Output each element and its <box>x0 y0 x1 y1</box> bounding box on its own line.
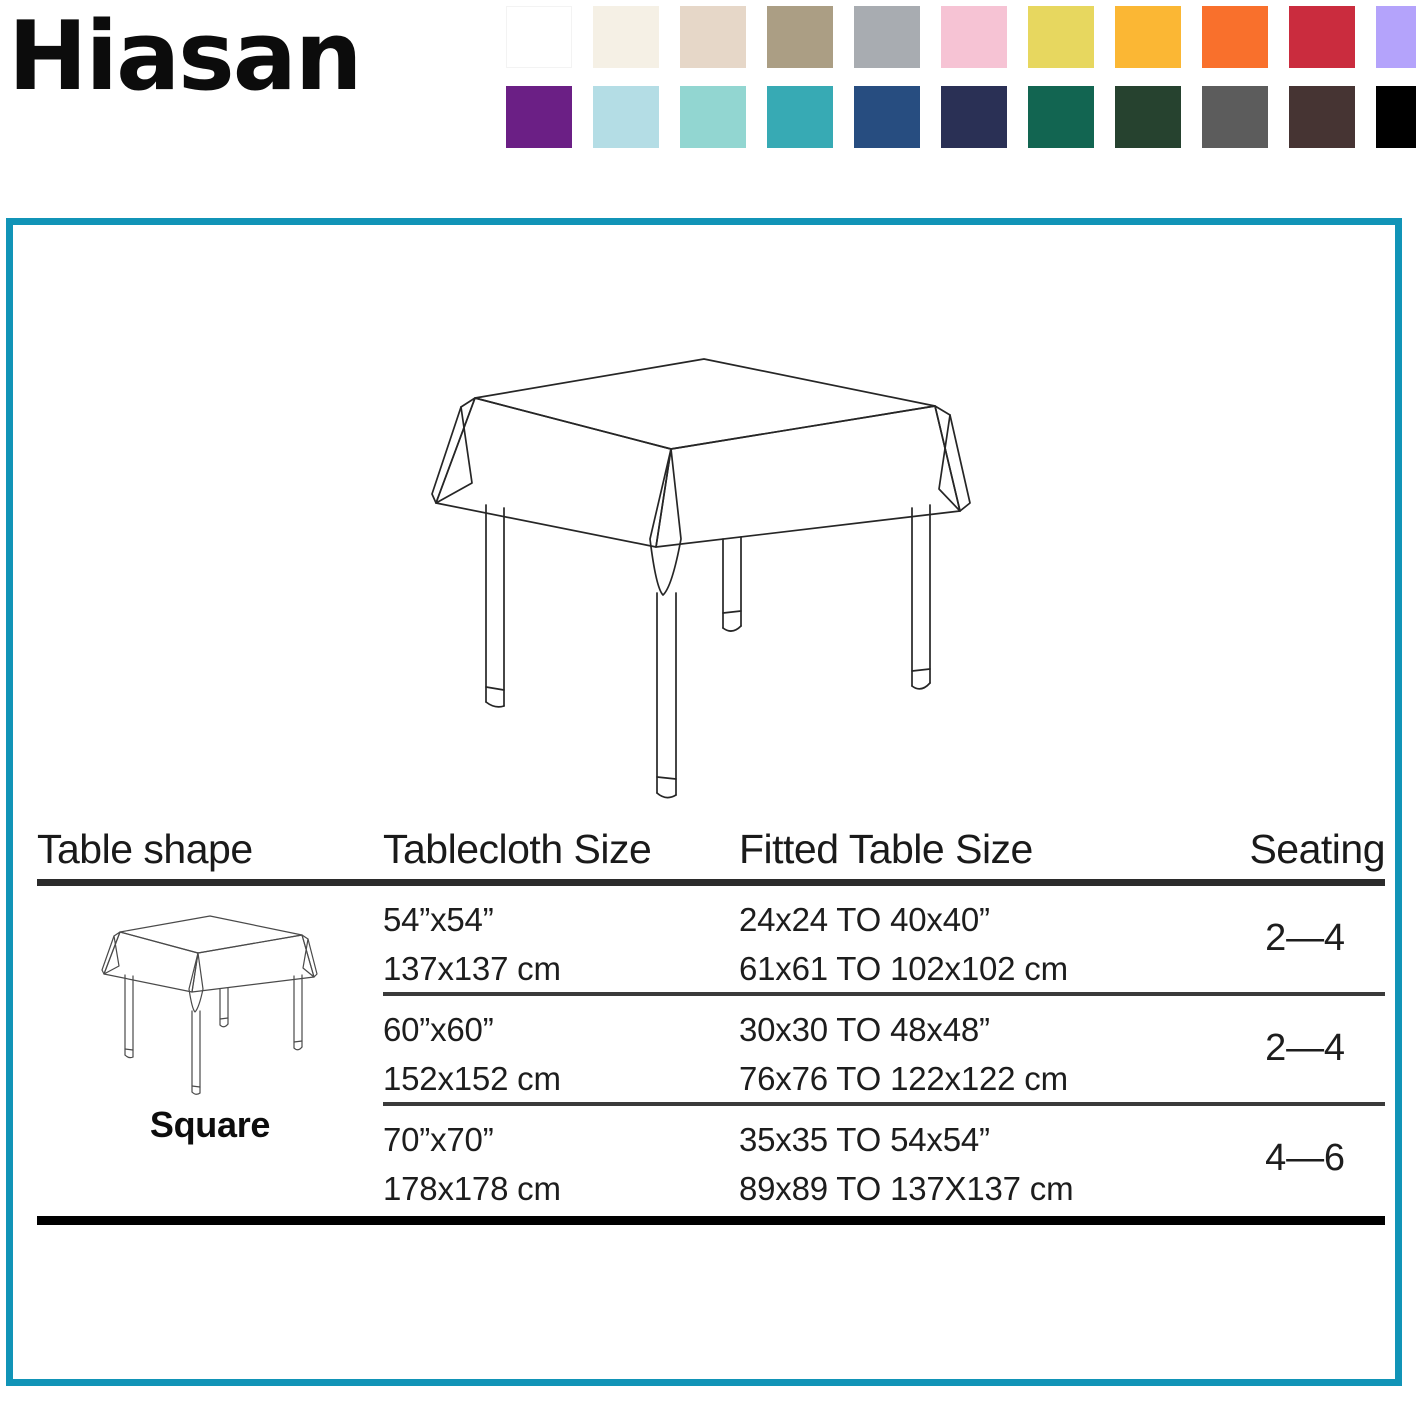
seating-value: 2—4 <box>1265 1027 1345 1070</box>
fitted-table-size-cell: 24x24 TO 40x40” 61x61 TO 102x102 cm <box>739 886 1225 994</box>
tablecloth-size-cell: 54”x54” 137x137 cm <box>383 886 739 994</box>
seating-cell: 2—4 <box>1225 886 1385 990</box>
color-swatch-white[interactable] <box>506 6 572 68</box>
table-header-row: Table shape Tablecloth Size Fitted Table… <box>37 807 1385 873</box>
tablecloth-size-cell: 60”x60” 152x152 cm <box>383 996 739 1104</box>
table-row: 70”x70” 178x178 cm 35x35 TO 54x54” 89x89… <box>383 1106 1385 1216</box>
color-swatch-orange[interactable] <box>1202 6 1268 68</box>
seating-cell: 4—6 <box>1225 1106 1385 1210</box>
fitted-size-inches: 30x30 TO 48x48” <box>739 1006 1225 1055</box>
color-swatch-yellow[interactable] <box>1028 6 1094 68</box>
tablecloth-size-inches: 60”x60” <box>383 1006 739 1055</box>
color-swatch-gray[interactable] <box>854 6 920 68</box>
square-table-icon <box>94 904 326 1100</box>
table-row: 54”x54” 137x137 cm 24x24 TO 40x40” 61x61… <box>383 886 1385 996</box>
table-row: 60”x60” 152x152 cm 30x30 TO 48x48” 76x76… <box>383 996 1385 1106</box>
column-header-table-shape: Table shape <box>37 826 383 873</box>
fitted-size-inches: 35x35 TO 54x54” <box>739 1116 1225 1165</box>
square-table-illustration <box>423 343 983 803</box>
color-swatch-lavender[interactable] <box>1376 6 1416 68</box>
tablecloth-size-cm: 178x178 cm <box>383 1165 739 1214</box>
color-swatch-charcoal-gray[interactable] <box>1202 86 1268 148</box>
fitted-size-cm: 76x76 TO 122x122 cm <box>739 1055 1225 1104</box>
color-swatch-purple[interactable] <box>506 86 572 148</box>
tablecloth-size-cell: 70”x70” 178x178 cm <box>383 1106 739 1214</box>
tablecloth-size-inches: 54”x54” <box>383 896 739 945</box>
column-header-tablecloth-size: Tablecloth Size <box>383 826 739 873</box>
header-divider <box>37 879 1385 886</box>
color-swatch-emerald[interactable] <box>1028 86 1094 148</box>
color-swatch-denim-blue[interactable] <box>854 86 920 148</box>
table-body: Square 54”x54” 137x137 cm 24x24 TO 40x40… <box>37 886 1385 1216</box>
fitted-size-inches: 24x24 TO 40x40” <box>739 896 1225 945</box>
tablecloth-size-inches: 70”x70” <box>383 1116 739 1165</box>
fitted-size-cm: 61x61 TO 102x102 cm <box>739 945 1225 994</box>
color-swatch-black[interactable] <box>1376 86 1416 148</box>
seating-cell: 2—4 <box>1225 996 1385 1100</box>
color-swatch-light-blue[interactable] <box>593 86 659 148</box>
color-swatch-pink[interactable] <box>941 6 1007 68</box>
seating-value: 4—6 <box>1265 1137 1345 1180</box>
table-shape-cell: Square <box>37 886 383 1216</box>
size-chart-table: Table shape Tablecloth Size Fitted Table… <box>37 807 1385 1225</box>
color-swatch-ivory[interactable] <box>593 6 659 68</box>
color-swatch-navy[interactable] <box>941 86 1007 148</box>
color-swatch-taupe[interactable] <box>767 6 833 68</box>
color-swatch-aqua[interactable] <box>680 86 746 148</box>
size-rows-container: 54”x54” 137x137 cm 24x24 TO 40x40” 61x61… <box>383 886 1385 1216</box>
info-card: Table shape Tablecloth Size Fitted Table… <box>6 218 1402 1386</box>
seating-value: 2—4 <box>1265 917 1345 960</box>
header-banner: Hiasan <box>0 0 1416 200</box>
table-shape-label: Square <box>37 1104 383 1146</box>
column-header-fitted-table-size: Fitted Table Size <box>739 826 1225 873</box>
fitted-table-size-cell: 30x30 TO 48x48” 76x76 TO 122x122 cm <box>739 996 1225 1104</box>
color-swatch-red[interactable] <box>1289 6 1355 68</box>
brand-logo: Hiasan <box>8 10 360 105</box>
column-header-seating: Seating <box>1225 826 1385 873</box>
table-bottom-divider <box>37 1216 1385 1225</box>
color-swatch-panel <box>506 6 1410 166</box>
color-swatch-marigold[interactable] <box>1115 6 1181 68</box>
fitted-table-size-cell: 35x35 TO 54x54” 89x89 TO 137X137 cm <box>739 1106 1225 1214</box>
color-swatch-teal[interactable] <box>767 86 833 148</box>
color-swatch-beige[interactable] <box>680 6 746 68</box>
color-swatch-forest-green[interactable] <box>1115 86 1181 148</box>
tablecloth-size-cm: 137x137 cm <box>383 945 739 994</box>
tablecloth-size-cm: 152x152 cm <box>383 1055 739 1104</box>
fitted-size-cm: 89x89 TO 137X137 cm <box>739 1165 1225 1214</box>
color-swatch-row-1 <box>506 6 1410 68</box>
color-swatch-brown[interactable] <box>1289 86 1355 148</box>
color-swatch-row-2 <box>506 86 1410 148</box>
